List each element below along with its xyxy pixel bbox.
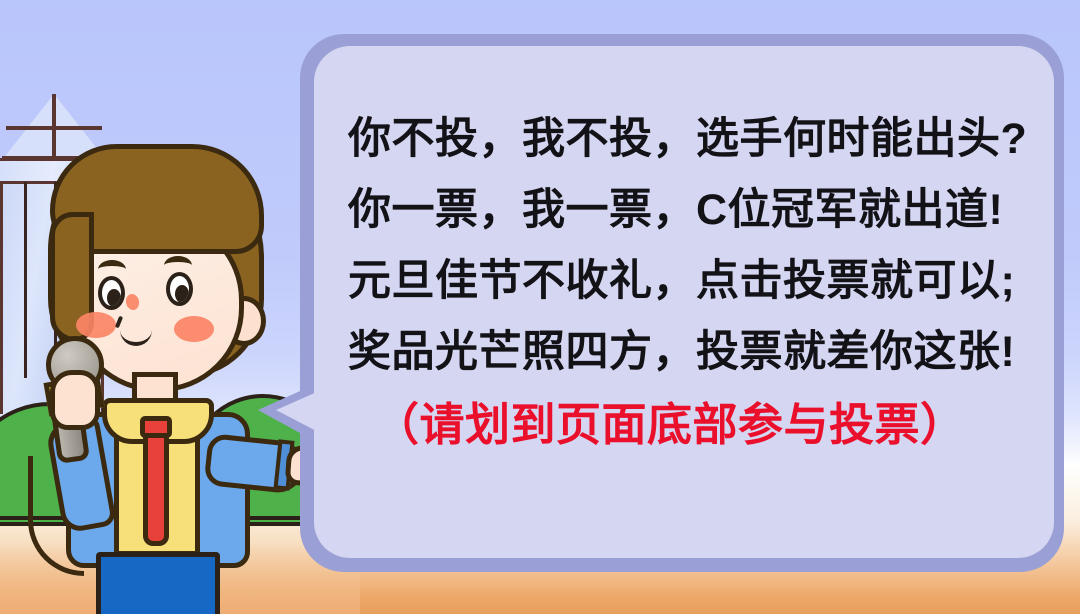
cheek-left [76,312,116,338]
necktie [143,426,169,546]
pupil-right [175,285,189,303]
eye-right [166,272,193,306]
bubble-line-3: 元旦佳节不收礼，点击投票就可以; [348,260,1054,303]
reporter-character [10,120,310,614]
bubble-line-1: 你不投，我不投，选手何时能出头? [348,118,1054,161]
bubble-line-2: 你一票，我一票，C位冠军就出道! [348,189,1054,232]
microphone-cable [28,456,84,576]
call-to-action-text: （请划到页面底部参与投票） [374,402,1054,447]
necktie-knot [140,416,172,438]
banner-image: 你不投，我不投，选手何时能出头? 你一票，我一票，C位冠军就出道! 元旦佳节不收… [0,0,1080,614]
pupil-left [107,289,121,307]
cheek-right [174,316,214,342]
hand-left [50,370,100,430]
speech-bubble-text: 你不投，我不投，选手何时能出头? 你一票，我一票，C位冠军就出道! 元旦佳节不收… [314,46,1054,558]
skirt [96,552,220,614]
eye-left [98,276,125,310]
bubble-line-4: 奖品光芒照四方，投票就差你这张! [348,331,1054,374]
